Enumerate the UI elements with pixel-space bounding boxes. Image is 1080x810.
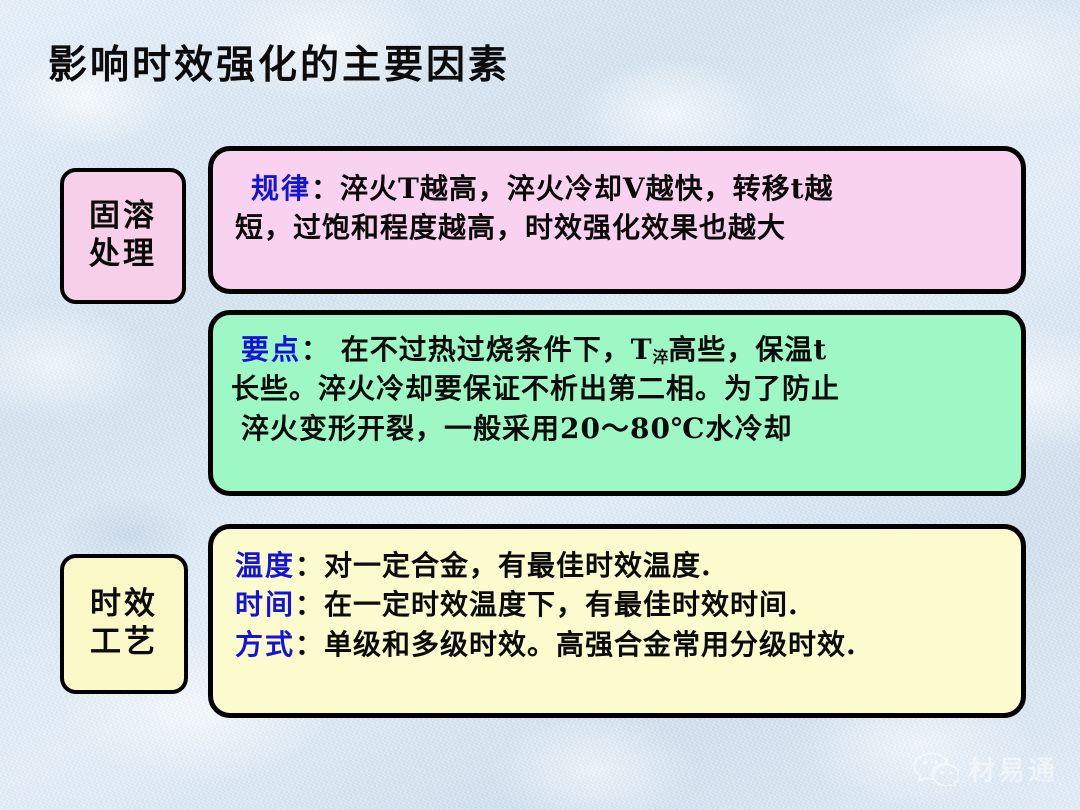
aging-row-temperature: 温度：对一定合金，有最佳时效温度. [235,546,1001,585]
rule-line-2: 短，过饱和程度越高，时效强化效果也越大 [235,208,1001,247]
keypoint-line-3: 淬火变形开裂，一般采用20～80℃水冷却 [231,409,1001,448]
aging-text-mode: 单级和多级时效。高强合金常用分级时效. [324,628,857,661]
category-label-solution-treatment: 固溶 处理 [60,168,186,304]
page-title: 影响时效强化的主要因素 [48,34,510,90]
category-label-aging-line1: 时效 [90,586,158,624]
aging-colon-time: ： [295,588,324,621]
aging-keyword-mode: 方式 [235,628,295,661]
category-label-aging-line2: 工艺 [90,624,158,662]
category-label-solution-line2: 处理 [89,236,157,274]
aging-text-time: 在一定时效温度下，有最佳时效时间. [324,588,799,621]
rule-keyword: 规律 [251,172,311,205]
content-box-keypoint: 要点： 在不过热过烧条件下，T淬高些，保温t 长些。淬火冷却要保证不析出第二相。… [208,310,1026,496]
watermark: 材易通 [913,749,1058,788]
slide-canvas: 影响时效强化的主要因素 固溶 处理 时效 工艺 规律：淬火T越高，淬火冷却V越快… [0,0,1080,810]
keypoint-subscript-quench: 淬 [653,347,669,366]
aging-keyword-time: 时间 [235,588,295,621]
aging-row-mode: 方式：单级和多级时效。高强合金常用分级时效. [235,625,1001,664]
keypoint-line1-part-b: 高些，保温t [668,333,827,366]
category-label-aging-process: 时效 工艺 [60,554,188,694]
keypoint-line1-part-a: 在不过热过烧条件下，T [330,333,653,366]
aging-row-time: 时间：在一定时效温度下，有最佳时效时间. [235,585,1001,624]
keypoint-line-2: 长些。淬火冷却要保证不析出第二相。为了防止 [231,369,1001,408]
wechat-icon [913,752,959,786]
rule-line-1: 规律：淬火T越高，淬火冷却V越快，转移t越 [235,169,1001,208]
keypoint-colon: ： [301,333,330,366]
content-box-rule: 规律：淬火T越高，淬火冷却V越快，转移t越 短，过饱和程度越高，时效强化效果也越… [208,146,1026,294]
rule-colon: ： [311,172,340,205]
category-label-solution-line1: 固溶 [89,198,157,236]
keypoint-line-1: 要点： 在不过热过烧条件下，T淬高些，保温t [231,330,1001,369]
aging-keyword-temperature: 温度 [235,549,295,582]
aging-text-temperature: 对一定合金，有最佳时效温度. [324,549,712,582]
rule-line1-text: 淬火T越高，淬火冷却V越快，转移t越 [340,172,834,205]
watermark-text: 材易通 [968,749,1058,788]
keypoint-keyword: 要点 [241,333,301,366]
aging-colon-temperature: ： [295,549,324,582]
aging-colon-mode: ： [295,628,324,661]
content-box-aging: 温度：对一定合金，有最佳时效温度. 时间：在一定时效温度下，有最佳时效时间. 方… [208,524,1026,718]
